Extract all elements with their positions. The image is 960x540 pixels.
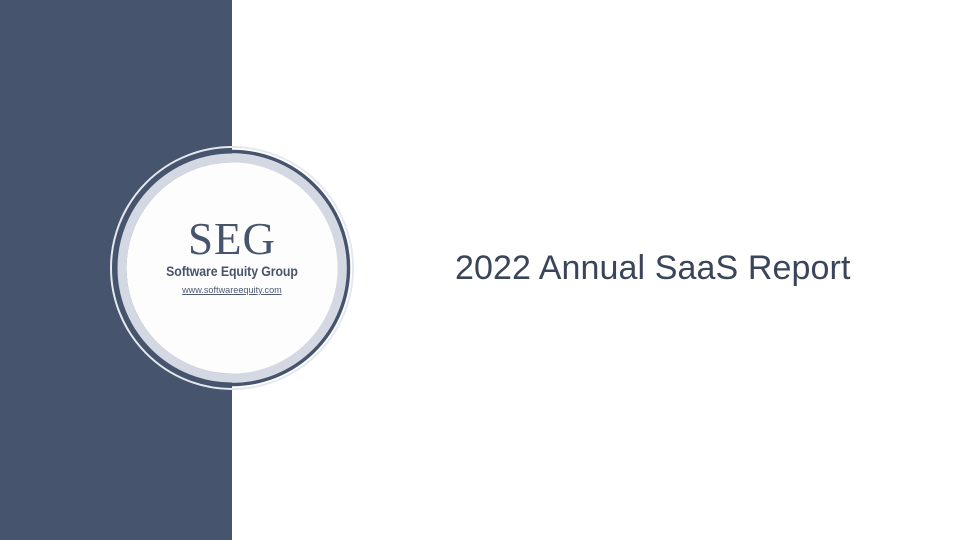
page-title: 2022 Annual SaaS Report [455,247,851,289]
logo-company-name: Software Equity Group [126,263,337,280]
title-slide: SEG Software Equity Group www.softwareeq… [0,0,960,540]
logo-website-link[interactable]: www.softwareequity.com [182,284,282,298]
logo-lockup: SEG Software Equity Group www.softwareeq… [112,216,352,298]
logo-monogram: SEG [112,216,352,262]
